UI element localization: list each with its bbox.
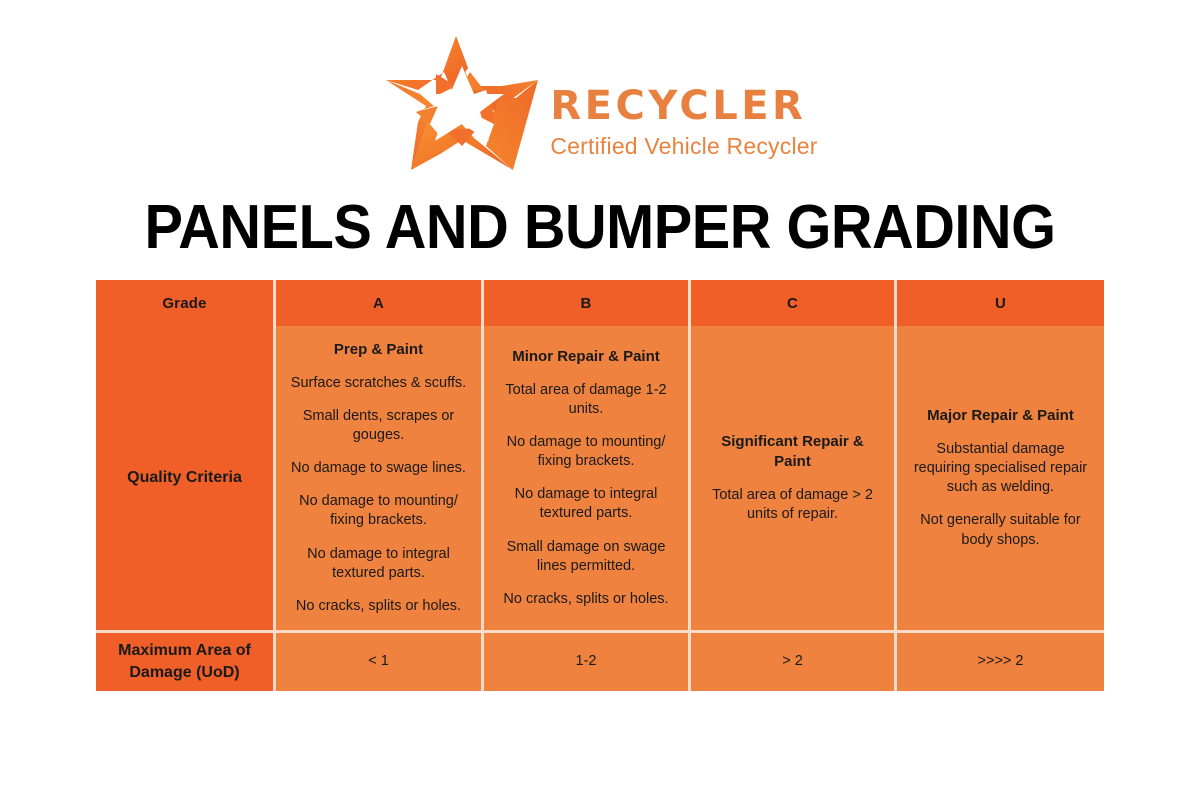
uod-value-grade-a: < 1: [276, 633, 484, 691]
table-row-maximum-area-of-damage: Maximum Area of Damage (UoD) < 1 1-2 > 2…: [96, 633, 1104, 691]
criteria-line: Surface scratches & scuffs.: [288, 374, 469, 393]
criteria-line: No damage to swage lines.: [288, 459, 469, 478]
criteria-line: No damage to integral textured parts.: [496, 485, 676, 523]
criteria-line: Total area of damage 1-2 units.: [496, 381, 676, 419]
criteria-heading-u: Major Repair & Paint: [909, 406, 1092, 426]
uod-value-grade-c: > 2: [691, 633, 897, 691]
table-header-row: Grade A B C U: [96, 280, 1104, 326]
uod-value-grade-u: >>>> 2: [897, 633, 1104, 691]
criteria-line: No damage to integral textured parts.: [288, 545, 469, 583]
criteria-line: Substantial damage requiring specialised…: [909, 440, 1092, 497]
criteria-line: No cracks, splits or holes.: [496, 590, 676, 609]
criteria-cell-grade-c: Significant Repair & Paint Total area of…: [691, 326, 897, 633]
criteria-cell-grade-b: Minor Repair & Paint Total area of damag…: [484, 326, 691, 633]
header-cell-grade-c: C: [691, 280, 897, 326]
criteria-line: No damage to mounting/ fixing brackets.: [288, 492, 469, 530]
logo-text-block: RECYCLER Certified Vehicle Recycler: [550, 43, 817, 164]
row-label-maximum-area-of-damage: Maximum Area of Damage (UoD): [96, 633, 276, 691]
uod-value-grade-b: 1-2: [484, 633, 691, 691]
document-page: RECYCLER Certified Vehicle Recycler PANE…: [0, 0, 1200, 800]
criteria-line: Not generally suitable for body shops.: [909, 511, 1092, 549]
criteria-cell-grade-u: Major Repair & Paint Substantial damage …: [897, 326, 1104, 633]
criteria-heading-b: Minor Repair & Paint: [496, 347, 676, 367]
criteria-heading-a: Prep & Paint: [288, 340, 469, 360]
logo-tagline: Certified Vehicle Recycler: [550, 129, 817, 164]
brand-logo: RECYCLER Certified Vehicle Recycler: [0, 28, 1200, 178]
criteria-heading-c: Significant Repair & Paint: [703, 432, 882, 472]
table-row-quality-criteria: Quality Criteria Prep & Paint Surface sc…: [96, 326, 1104, 633]
criteria-line: No cracks, splits or holes.: [288, 597, 469, 616]
row-label-quality-criteria: Quality Criteria: [96, 326, 276, 633]
grading-table: Grade A B C U Quality Criteria Prep & Pa…: [96, 280, 1104, 691]
criteria-line: Total area of damage > 2 units of repair…: [703, 486, 882, 524]
criteria-cell-grade-a: Prep & Paint Surface scratches & scuffs.…: [276, 326, 484, 633]
page-title: PANELS AND BUMPER GRADING: [42, 192, 1158, 263]
logo-wordmark: RECYCLER: [550, 85, 817, 127]
criteria-line: No damage to mounting/ fixing brackets.: [496, 433, 676, 471]
header-cell-grade-u: U: [897, 280, 1104, 326]
criteria-line: Small damage on swage lines permitted.: [496, 538, 676, 576]
header-cell-grade-b: B: [484, 280, 691, 326]
header-cell-grade-a: A: [276, 280, 484, 326]
header-cell-grade: Grade: [96, 280, 276, 326]
criteria-line: Small dents, scrapes or gouges.: [288, 407, 469, 445]
recycling-star-icon: [382, 28, 542, 178]
